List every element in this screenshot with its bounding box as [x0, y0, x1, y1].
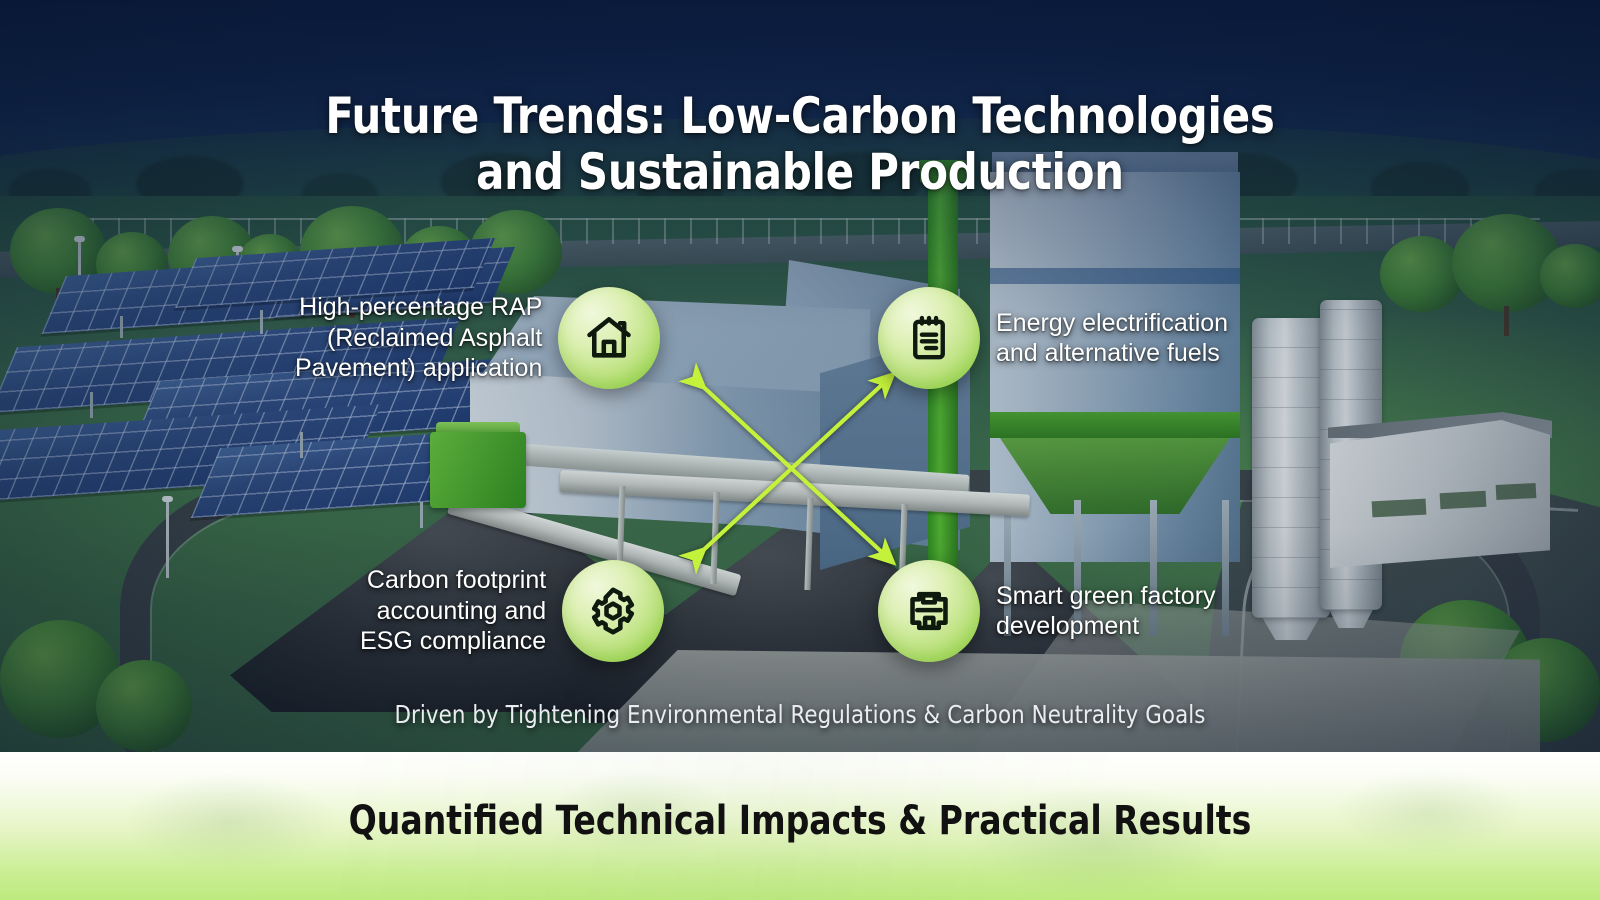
- gear-icon-badge[interactable]: [562, 560, 664, 662]
- office-window: [1496, 483, 1537, 500]
- tree: [1380, 236, 1464, 312]
- clipboard-icon-badge[interactable]: [878, 287, 980, 389]
- document-icon: [903, 585, 955, 637]
- office-window: [1372, 499, 1427, 518]
- mixing-tower-band: [990, 268, 1240, 284]
- feature-node-electrification[interactable]: Energy electrification and alternative f…: [878, 287, 1228, 389]
- mixing-tower-green-band: [990, 412, 1240, 438]
- house-icon: [583, 312, 635, 364]
- banner-title: Quantified Technical Impacts & Practical…: [64, 798, 1536, 844]
- feature-node-smart-factory[interactable]: Smart green factory development: [878, 560, 1216, 662]
- feature-node-carbon-accounting[interactable]: Carbon footprint accounting and ESG comp…: [360, 560, 664, 662]
- page-title: Future Trends: Low-Carbon Technologies a…: [56, 88, 1544, 200]
- document-icon-badge[interactable]: [878, 560, 980, 662]
- feature-label-carbon-accounting: Carbon footprint accounting and ESG comp…: [360, 565, 546, 657]
- tree: [1540, 244, 1600, 308]
- green-feeder-hopper: [430, 432, 526, 508]
- infographic-slide: Future Trends: Low-Carbon Technologies a…: [0, 0, 1600, 900]
- clipboard-icon: [904, 313, 954, 363]
- hero-photo: Future Trends: Low-Carbon Technologies a…: [0, 0, 1600, 752]
- house-icon-badge[interactable]: [558, 287, 660, 389]
- bottom-banner: Quantified Technical Impacts & Practical…: [0, 752, 1600, 900]
- gear-icon: [587, 585, 639, 637]
- page-title-line-2: and Sustainable Production: [476, 143, 1124, 201]
- feature-label-electrification: Energy electrification and alternative f…: [996, 308, 1228, 369]
- hero-caption: Driven by Tightening Environmental Regul…: [40, 700, 1560, 729]
- cement-silo: [1252, 318, 1330, 618]
- feature-label-rap: High-percentage RAP (Reclaimed Asphalt P…: [295, 292, 542, 384]
- page-title-line-1: Future Trends: Low-Carbon Technologies: [325, 87, 1274, 145]
- feature-label-smart-factory: Smart green factory development: [996, 581, 1216, 642]
- feature-node-rap[interactable]: High-percentage RAP (Reclaimed Asphalt P…: [295, 287, 660, 389]
- office-window: [1440, 491, 1487, 509]
- tree-trunk: [1504, 306, 1509, 336]
